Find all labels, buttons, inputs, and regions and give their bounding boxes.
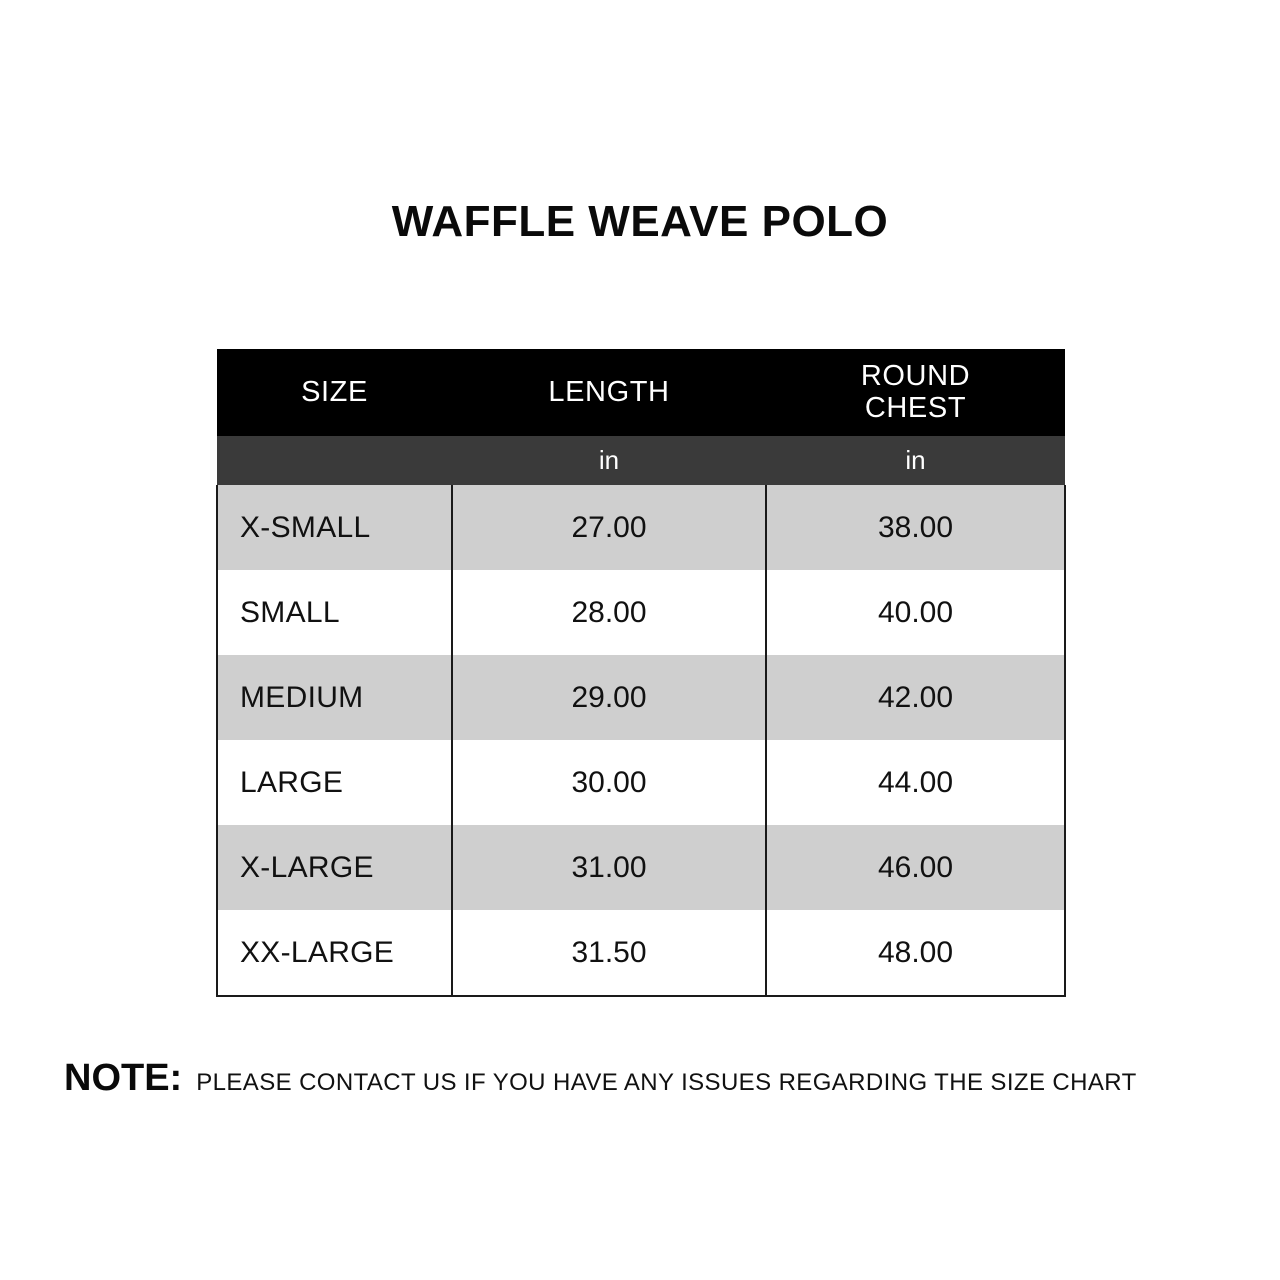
cell-size: LARGE <box>217 740 452 825</box>
page-title: WAFFLE WEAVE POLO <box>0 198 1280 246</box>
column-header-round-chest: ROUND CHEST <box>766 349 1065 436</box>
cell-size: XX-LARGE <box>217 910 452 996</box>
cell-round-chest: 38.00 <box>766 485 1065 570</box>
cell-length: 31.50 <box>452 910 766 996</box>
unit-cell-round-chest: in <box>766 436 1065 485</box>
unit-cell-length: in <box>452 436 766 485</box>
table-body: X-SMALL 27.00 38.00 SMALL 28.00 40.00 ME… <box>217 485 1065 996</box>
cell-round-chest: 44.00 <box>766 740 1065 825</box>
table-row: LARGE 30.00 44.00 <box>217 740 1065 825</box>
size-chart-table: SIZE LENGTH ROUND CHEST in in X-SMALL 27… <box>216 349 1066 997</box>
cell-round-chest: 42.00 <box>766 655 1065 740</box>
cell-length: 31.00 <box>452 825 766 910</box>
table-row: X-LARGE 31.00 46.00 <box>217 825 1065 910</box>
cell-length: 28.00 <box>452 570 766 655</box>
cell-length: 30.00 <box>452 740 766 825</box>
column-header-size: SIZE <box>217 349 452 436</box>
table-row: SMALL 28.00 40.00 <box>217 570 1065 655</box>
size-chart-table-container: SIZE LENGTH ROUND CHEST in in X-SMALL 27… <box>216 349 1064 997</box>
header-row-units: in in <box>217 436 1065 485</box>
cell-size: X-LARGE <box>217 825 452 910</box>
header-row-labels: SIZE LENGTH ROUND CHEST <box>217 349 1065 436</box>
table-row: XX-LARGE 31.50 48.00 <box>217 910 1065 996</box>
unit-cell-size <box>217 436 452 485</box>
cell-length: 27.00 <box>452 485 766 570</box>
cell-round-chest: 40.00 <box>766 570 1065 655</box>
note-label: NOTE: <box>64 1057 182 1100</box>
column-header-round-chest-line2: CHEST <box>766 393 1065 424</box>
table-row: X-SMALL 27.00 38.00 <box>217 485 1065 570</box>
cell-length: 29.00 <box>452 655 766 740</box>
column-header-round-chest-line1: ROUND <box>766 361 1065 392</box>
table-row: MEDIUM 29.00 42.00 <box>217 655 1065 740</box>
table-header: SIZE LENGTH ROUND CHEST in in <box>217 349 1065 485</box>
column-header-length: LENGTH <box>452 349 766 436</box>
cell-size: X-SMALL <box>217 485 452 570</box>
cell-size: MEDIUM <box>217 655 452 740</box>
note-section: NOTE: PLEASE CONTACT US IF YOU HAVE ANY … <box>64 1057 1244 1100</box>
cell-round-chest: 46.00 <box>766 825 1065 910</box>
cell-size: SMALL <box>217 570 452 655</box>
cell-round-chest: 48.00 <box>766 910 1065 996</box>
note-text: PLEASE CONTACT US IF YOU HAVE ANY ISSUES… <box>196 1069 1136 1097</box>
